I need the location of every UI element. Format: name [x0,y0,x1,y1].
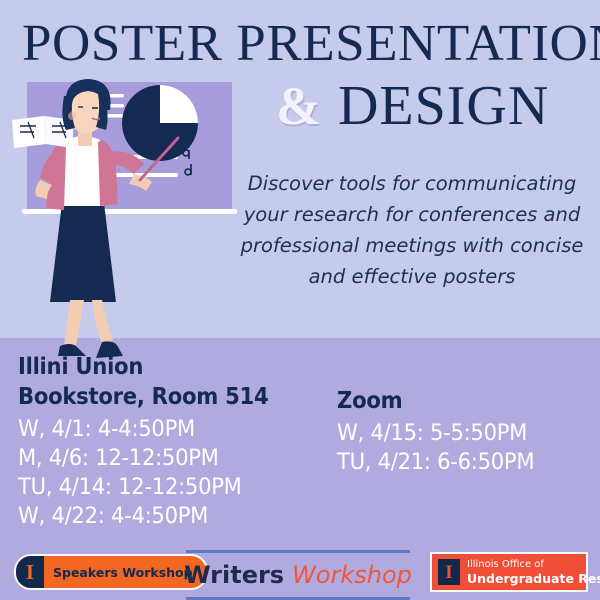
speakers-workshop-label: Speakers Workshop [44,556,206,588]
undergrad-research-line-2: Undergraduate Research [467,571,600,586]
illinois-i-icon-2: I [438,559,460,585]
illinois-i-icon: I [16,556,44,588]
undergrad-research-wordmark: Illinois Office of Undergraduate Researc… [467,559,600,586]
schedule-column-zoom: Zoom W, 4/15: 5-5:50PM TU, 4/21: 6-6:50P… [337,386,595,477]
illinois-i-glyph-2: I [445,563,452,582]
writers-workshop-wordmark: WritersWorkshop [184,563,412,587]
zoom-heading: Zoom [337,386,574,416]
schedule-column-venue: Illini Union Bookstore, Room 514 W, 4/1:… [18,352,338,531]
zoom-time-list: W, 4/15: 5-5:50PM TU, 4/21: 6-6:50PM [337,419,595,477]
schedule-section: Illini Union Bookstore, Room 514 W, 4/1:… [0,352,600,542]
speakers-pill: I Speakers Workshop [16,556,206,588]
venue-time-row: TU, 4/14: 12-12:50PM [18,473,325,502]
footer-logo-bar: I Speakers Workshop WritersWorkshop I Il… [0,546,600,600]
illustration-svg [0,60,240,360]
board-base-rail [22,209,237,214]
venue-time-row: M, 4/6: 12-12:50PM [18,444,325,473]
logo-writers-workshop[interactable]: WritersWorkshop [186,550,410,600]
title-design-word: DESIGN [338,75,549,137]
cheek-blush [68,112,76,120]
presenter-illustration [0,60,240,360]
undergrad-research-line-1: Illinois Office of [467,559,600,571]
logo-undergraduate-research[interactable]: I Illinois Office of Undergraduate Resea… [430,552,588,592]
description-text: Discover tools for communicating your re… [228,168,596,292]
venue-time-row: W, 4/1: 4-4:50PM [18,415,325,444]
workshop-word: Workshop [292,561,412,589]
poster-canvas: POSTER PRESENTATION &DESIGN Discover too… [0,0,600,600]
page-title-line-2: &DESIGN [276,76,549,136]
venue-time-list: W, 4/1: 4-4:50PM M, 4/6: 12-12:50PM TU, … [18,415,338,531]
logo-speakers-workshop[interactable]: I Speakers Workshop [14,554,208,590]
illinois-i-glyph: I [26,562,34,583]
leg-left [64,300,84,348]
ampersand-glyph: & [276,76,322,136]
venue-heading-line-2: Bookstore, Room 514 [18,382,312,412]
zoom-time-row: TU, 4/21: 6-6:50PM [337,448,585,477]
zoom-time-row: W, 4/15: 5-5:50PM [337,419,585,448]
leg-right [92,300,113,344]
venue-time-row: W, 4/22: 4-4:50PM [18,502,325,531]
venue-heading-line-1: Illini Union [18,352,312,382]
writers-word: Writers [184,561,284,589]
skirt [50,203,116,302]
